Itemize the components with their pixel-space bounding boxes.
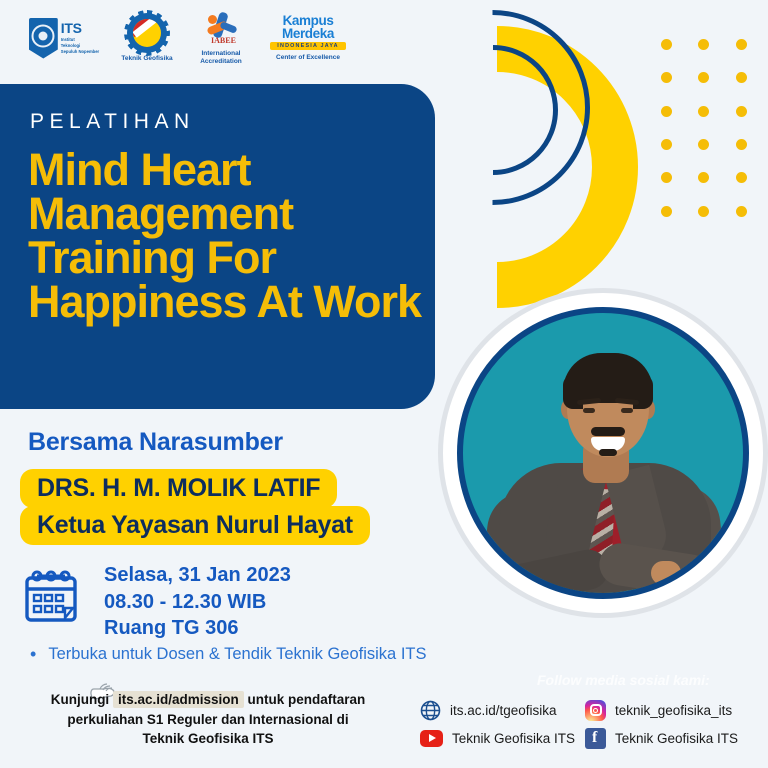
admission-note: Kunjungi its.ac.id/admission untuk penda… xyxy=(18,690,398,749)
social-facebook-label: Teknik Geofisika ITS xyxy=(615,731,738,746)
iabee-figure-icon: IABEE xyxy=(201,10,241,48)
social-facebook[interactable]: Teknik Geofisika ITS xyxy=(585,728,765,749)
follow-label: Follow media sosial kami: xyxy=(537,672,710,688)
kampus-merdeka-logo: Kampus Merdeka INDONESIA JAYA Center of … xyxy=(258,14,358,63)
social-website-label: its.ac.id/tgeofisika xyxy=(450,703,557,718)
social-instagram[interactable]: teknik_geofisika_its xyxy=(585,700,765,721)
quarter-arc-decoration xyxy=(404,58,624,258)
eyebrow-label: PELATIHAN xyxy=(30,110,195,134)
km-line2: Merdeka xyxy=(282,27,334,41)
social-links: its.ac.id/tgeofisika teknik_geofisika_it… xyxy=(420,696,765,752)
facebook-icon xyxy=(585,728,606,749)
youtube-icon xyxy=(420,730,443,747)
schedule-time: 08.30 - 12.30 WIB xyxy=(104,589,291,616)
its-subtitle: Institut Teknologi Sepuluh Nopember xyxy=(61,37,99,54)
iabee-caption: International Accreditation xyxy=(200,50,242,66)
admission-note-line3: Teknik Geofisika ITS xyxy=(18,729,398,749)
km-line1: Kampus xyxy=(283,14,334,28)
km-line3: INDONESIA JAYA xyxy=(270,42,345,50)
bullet-dot-icon: • xyxy=(30,645,36,663)
its-acronym: ITS xyxy=(61,21,99,35)
speaker-role: Ketua Yayasan Nurul Hayat xyxy=(20,506,370,545)
poster-canvas: ITS Institut Teknologi Sepuluh Nopember … xyxy=(0,0,768,768)
social-instagram-label: teknik_geofisika_its xyxy=(615,703,732,718)
teknik-geofisika-logo: Teknik Geofisika xyxy=(110,13,184,63)
admission-note-line2: perkuliahan S1 Reguler dan Internasional… xyxy=(18,710,398,730)
km-caption: Center of Excellence xyxy=(276,54,340,62)
speaker-photo-frame xyxy=(443,293,763,613)
page-title: Mind Heart Management Training For Happi… xyxy=(28,148,428,324)
logo-bar: ITS Institut Teknologi Sepuluh Nopember … xyxy=(0,0,768,76)
speaker-intro: Bersama Narasumber xyxy=(28,428,283,457)
audience-note: • Terbuka untuk Dosen & Tendik Teknik Ge… xyxy=(30,645,426,664)
globe-icon xyxy=(420,700,441,721)
its-shield-icon xyxy=(29,18,58,59)
social-youtube[interactable]: Teknik Geofisika ITS xyxy=(420,730,585,747)
avatar xyxy=(463,313,743,593)
visit-prefix: Kunjungi xyxy=(51,692,109,707)
its-logo: ITS Institut Teknologi Sepuluh Nopember xyxy=(18,18,110,59)
speaker-name: DRS. H. M. MOLIK LATIF xyxy=(20,469,337,508)
schedule-block: Selasa, 31 Jan 2023 08.30 - 12.30 WIB Ru… xyxy=(104,562,291,642)
iabee-wordmark: IABEE xyxy=(211,36,236,45)
social-website[interactable]: its.ac.id/tgeofisika xyxy=(420,700,585,721)
teknik-geofisika-caption: Teknik Geofisika xyxy=(121,55,172,63)
audience-note-text: Terbuka untuk Dosen & Tendik Teknik Geof… xyxy=(48,645,426,664)
visit-suffix: untuk pendaftaran xyxy=(248,692,366,707)
iabee-logo: IABEE International Accreditation xyxy=(184,10,258,66)
calendar-icon xyxy=(22,568,80,626)
schedule-date: Selasa, 31 Jan 2023 xyxy=(104,562,291,589)
admission-url[interactable]: its.ac.id/admission xyxy=(113,691,244,708)
social-youtube-label: Teknik Geofisika ITS xyxy=(452,731,575,746)
speaker-photo-ring xyxy=(457,307,749,599)
schedule-room: Ruang TG 306 xyxy=(104,615,291,642)
gear-globe-icon xyxy=(127,13,167,53)
instagram-icon xyxy=(585,700,606,721)
